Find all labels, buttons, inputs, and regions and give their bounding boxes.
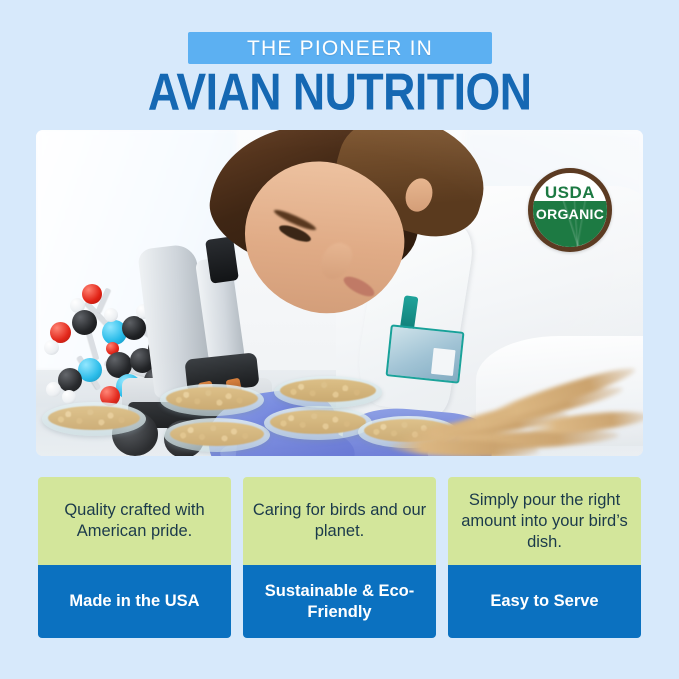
feature-card-made-in-usa: Quality crafted with American pride. Mad… (38, 477, 231, 638)
eyebrow-banner: THE PIONEER IN (188, 32, 492, 64)
card-description-area: Simply pour the right amount into your b… (448, 477, 641, 565)
grain-seeds (280, 379, 376, 402)
card-title: Easy to Serve (490, 591, 598, 612)
seal-organic-text: ORGANIC (533, 206, 607, 222)
header: THE PIONEER IN AVIAN NUTRITION (0, 0, 679, 128)
card-description: Caring for birds and our planet. (251, 500, 428, 542)
card-title-area: Sustainable & Eco-Friendly (243, 565, 436, 638)
headline-text: AVIAN NUTRITION (148, 66, 532, 118)
wheat-stalks (389, 364, 643, 456)
card-title: Made in the USA (69, 591, 199, 612)
page-title: AVIAN NUTRITION (0, 66, 679, 112)
usda-organic-seal: USDA ORGANIC (528, 168, 612, 252)
card-description-area: Quality crafted with American pride. (38, 477, 231, 565)
eyebrow-text: THE PIONEER IN (247, 38, 433, 59)
grain-seeds (270, 410, 366, 434)
feature-card-row: Quality crafted with American pride. Mad… (38, 477, 641, 638)
card-title-area: Easy to Serve (448, 565, 641, 638)
feature-card-sustainable: Caring for birds and our planet. Sustain… (243, 477, 436, 638)
card-title-area: Made in the USA (38, 565, 231, 638)
card-description-area: Caring for birds and our planet. (243, 477, 436, 565)
card-description: Simply pour the right amount into your b… (456, 490, 633, 553)
grain-seeds (170, 422, 264, 446)
card-description: Quality crafted with American pride. (46, 500, 223, 542)
grain-seeds (48, 406, 140, 430)
feature-card-easy-to-serve: Simply pour the right amount into your b… (448, 477, 641, 638)
card-title: Sustainable & Eco-Friendly (249, 581, 430, 623)
seal-usda-text: USDA (533, 183, 607, 203)
grain-seeds (166, 387, 258, 410)
